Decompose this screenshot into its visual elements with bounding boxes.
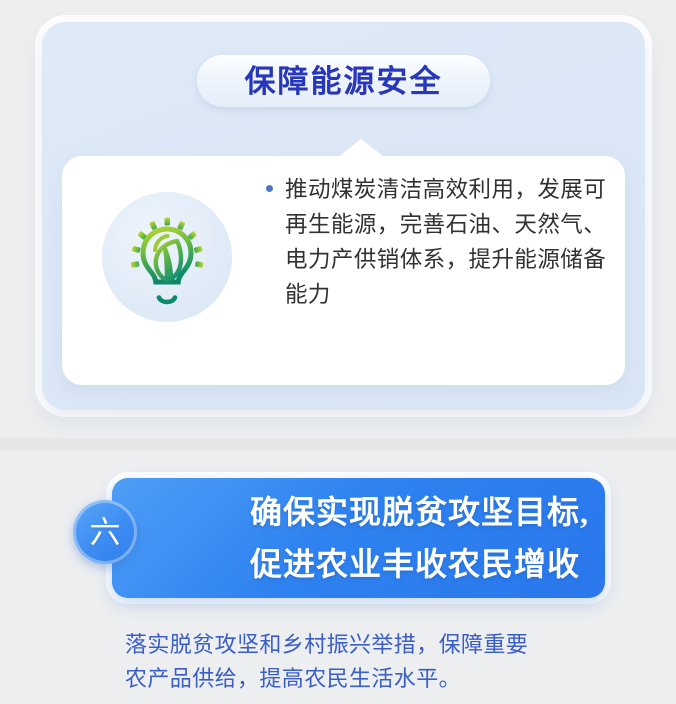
energy-security-card: 保障能源安全 <box>42 22 645 410</box>
section-number-badge: 六 <box>73 500 137 564</box>
bullet-dot-icon <box>266 185 273 192</box>
poverty-caption-line-2: 农产品供给，提高农民生活水平。 <box>125 662 585 696</box>
poverty-banner: 确保实现脱贫攻坚目标, 促进农业丰收农民增收 <box>112 478 605 598</box>
poverty-banner-line-2: 促进农业丰收农民增收 <box>250 538 595 590</box>
energy-security-title-pill: 保障能源安全 <box>197 55 490 107</box>
energy-icon-badge <box>102 192 232 322</box>
section-number-label: 六 <box>90 517 121 548</box>
energy-security-section: 保障能源安全 <box>0 0 676 438</box>
poverty-caption-line-1: 落实脱贫攻坚和乡村振兴举措，保障重要 <box>125 628 585 662</box>
energy-security-title: 保障能源安全 <box>245 66 443 97</box>
section-divider <box>0 438 676 450</box>
energy-bullet-item: 推动煤炭清洁高效利用，发展可再生能源，完善石油、天然气、电力产供销体系，提升能源… <box>266 172 606 312</box>
poverty-banner-text: 确保实现脱贫攻坚目标, 促进农业丰收农民增收 <box>250 486 595 590</box>
energy-content-panel: 推动煤炭清洁高效利用，发展可再生能源，完善石油、天然气、电力产供销体系，提升能源… <box>62 156 625 385</box>
energy-bullet-text: 推动煤炭清洁高效利用，发展可再生能源，完善石油、天然气、电力产供销体系，提升能源… <box>285 172 606 312</box>
poverty-caption: 落实脱贫攻坚和乡村振兴举措，保障重要 农产品供给，提高农民生活水平。 <box>125 628 585 696</box>
panel-tail-notch <box>338 139 384 157</box>
poverty-banner-line-1: 确保实现脱贫攻坚目标, <box>250 486 595 538</box>
green-lightbulb-leaf-icon <box>115 205 219 309</box>
poverty-alleviation-section: 确保实现脱贫攻坚目标, 促进农业丰收农民增收 六 落实脱贫攻坚和乡村振兴举措，保… <box>0 450 676 704</box>
